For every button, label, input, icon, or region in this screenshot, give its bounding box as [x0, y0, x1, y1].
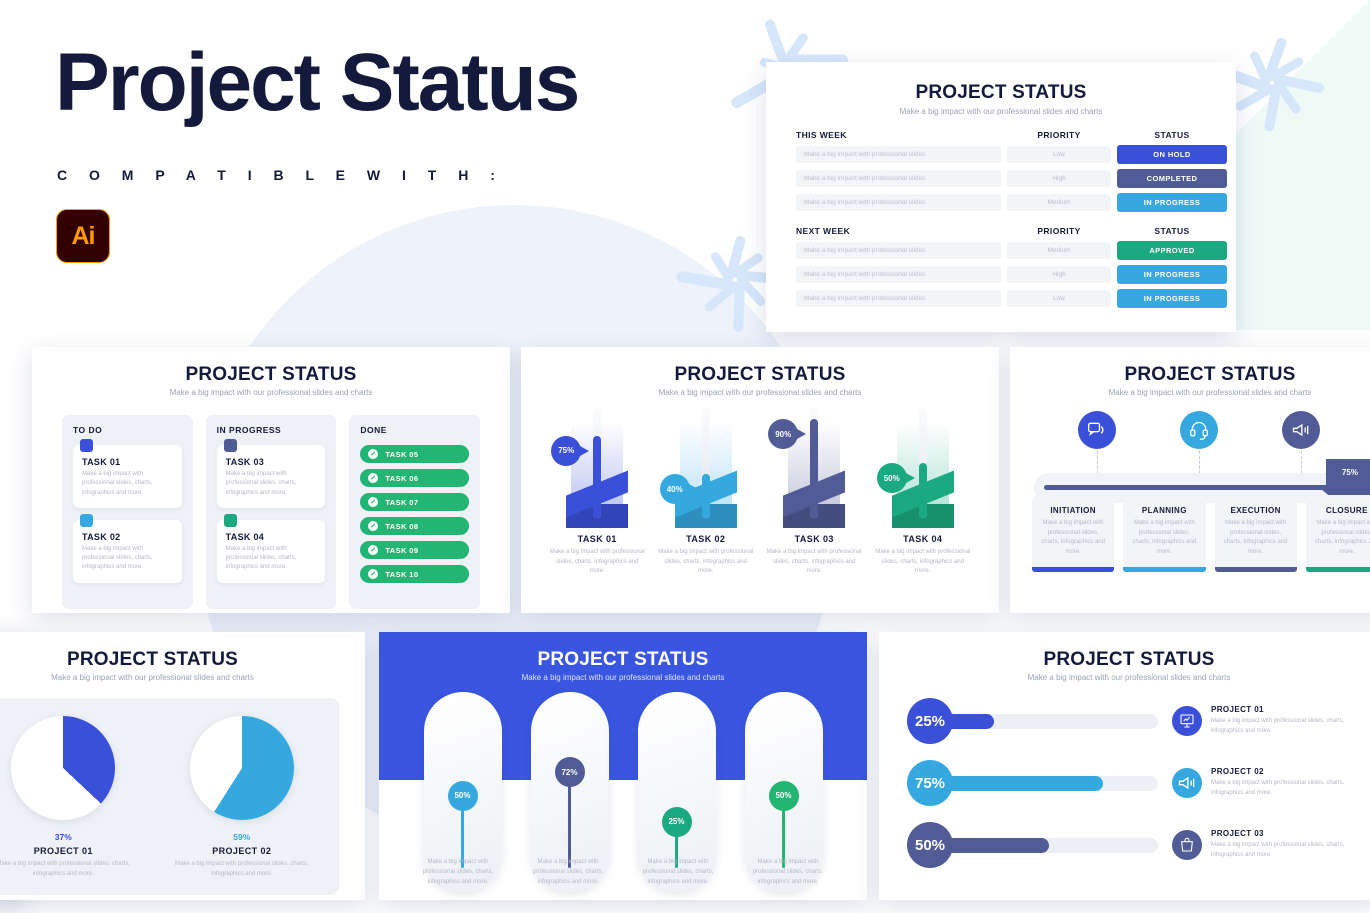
- row-status-cell: COMPLETED: [1117, 169, 1227, 188]
- task-description: Make a big impact with professional slid…: [82, 470, 173, 498]
- thermometer-item[interactable]: 75%TASK 01Make a big impact with profess…: [543, 403, 652, 577]
- row-status-cell: IN PROGRESS: [1117, 289, 1227, 308]
- slide-card-progress[interactable]: PROJECT STATUS Make a big impact with ou…: [879, 632, 1370, 900]
- project-name: PROJECT 02: [153, 846, 332, 856]
- done-task-label: TASK 05: [385, 450, 418, 459]
- capsule-description: Make a big impact with professional slid…: [513, 858, 623, 888]
- project-name: PROJECT 03: [1211, 829, 1351, 838]
- slide-card-kanban[interactable]: PROJECT STATUS Make a big impact with ou…: [32, 347, 510, 613]
- task-color-chip: [80, 439, 93, 452]
- megaphone-icon[interactable]: [1282, 411, 1320, 449]
- progress-track: [939, 838, 1158, 853]
- slide-subtitle: Make a big impact with our professional …: [379, 673, 867, 682]
- bubble-pointer: [797, 429, 806, 439]
- progress-percent-circle: 50%: [907, 822, 953, 868]
- task-name: TASK 03: [226, 457, 317, 467]
- done-task-pill[interactable]: ✓TASK 08: [360, 517, 469, 535]
- row-description-cell: Make a big impact with professional slid…: [796, 266, 1001, 283]
- thermometer-tube: [593, 408, 601, 518]
- progress-row[interactable]: 25%PROJECT 01Make a big impact with prof…: [907, 698, 1351, 744]
- done-task-pill[interactable]: ✓TASK 07: [360, 493, 469, 511]
- bubble-pointer: [689, 484, 698, 494]
- status-badge[interactable]: ON HOLD: [1117, 145, 1227, 164]
- shopping-bag-icon[interactable]: [1172, 830, 1202, 860]
- progress-fill: [939, 776, 1103, 791]
- slide-subtitle: Make a big impact with our professional …: [0, 673, 365, 682]
- capsule-percent-knob: 72%: [555, 757, 585, 787]
- slide-subtitle: Make a big impact with our professional …: [879, 673, 1370, 682]
- progress-row[interactable]: 75%PROJECT 02Make a big impact with prof…: [907, 760, 1351, 806]
- status-header: STATUS: [1117, 226, 1227, 236]
- status-badge[interactable]: IN PROGRESS: [1117, 193, 1227, 212]
- task-description: Make a big impact with professional slid…: [869, 548, 978, 577]
- table-row[interactable]: Make a big impact with professional slid…: [796, 241, 1206, 260]
- check-icon: ✓: [368, 497, 378, 507]
- slide-title: PROJECT STATUS: [32, 364, 510, 386]
- capsule-stem: [568, 783, 571, 868]
- slide-card-capsules[interactable]: PROJECT STATUS Make a big impact with ou…: [379, 632, 867, 900]
- phase-description: Make a big impact with professional slid…: [1040, 519, 1106, 557]
- percent-bubble: 50%: [877, 463, 907, 493]
- task-name: TASK 01: [543, 534, 652, 544]
- timeline-phase-card[interactable]: EXECUTIONMake a big impact with professi…: [1215, 495, 1297, 567]
- row-description: Make a big impact with professional slid…: [796, 242, 1001, 259]
- row-status-cell: IN PROGRESS: [1117, 265, 1227, 284]
- progress-text: PROJECT 03Make a big impact with profess…: [1211, 829, 1351, 860]
- kanban-column-heading: TO DO: [73, 425, 182, 435]
- kanban-column: TO DOTASK 01Make a big impact with profe…: [62, 415, 193, 609]
- slide-card-timeline[interactable]: PROJECT STATUS Make a big impact with ou…: [1010, 347, 1370, 613]
- slide-title: PROJECT STATUS: [521, 364, 999, 386]
- status-badge[interactable]: COMPLETED: [1117, 169, 1227, 188]
- row-description: Make a big impact with professional slid…: [796, 146, 1001, 163]
- done-task-pill[interactable]: ✓TASK 09: [360, 541, 469, 559]
- chat-bubble-icon[interactable]: [1078, 411, 1116, 449]
- slide-card-thermometers[interactable]: PROJECT STATUS Make a big impact with ou…: [521, 347, 999, 613]
- priority-value: High: [1007, 266, 1111, 283]
- phase-description: Make a big impact with professional slid…: [1131, 519, 1197, 557]
- task-description: Make a big impact with professional slid…: [82, 545, 173, 573]
- table-section: NEXT WEEKPRIORITYSTATUSMake a big impact…: [766, 226, 1236, 308]
- progress-track: [939, 714, 1158, 729]
- status-badge[interactable]: IN PROGRESS: [1117, 289, 1227, 308]
- phase-name: CLOSURE: [1314, 506, 1370, 515]
- progress-percent-circle: 75%: [907, 760, 953, 806]
- done-task-label: TASK 06: [385, 474, 418, 483]
- check-icon: ✓: [368, 449, 378, 459]
- slide-card-table[interactable]: PROJECT STATUS Make a big impact with ou…: [766, 62, 1236, 332]
- section-heading: THIS WEEK: [796, 130, 1001, 140]
- check-icon: ✓: [368, 473, 378, 483]
- task-description: Make a big impact with professional slid…: [226, 545, 317, 573]
- pie-chart: [11, 716, 115, 820]
- row-description: Make a big impact with professional slid…: [796, 170, 1001, 187]
- timeline-phase-card[interactable]: PLANNINGMake a big impact with professio…: [1123, 495, 1205, 567]
- table-header-row: THIS WEEKPRIORITYSTATUS: [796, 130, 1206, 140]
- row-description-cell: Make a big impact with professional slid…: [796, 290, 1001, 307]
- progress-track: [939, 776, 1158, 791]
- done-task-pill[interactable]: ✓TASK 06: [360, 469, 469, 487]
- timeline-phase-card[interactable]: INITIATIONMake a big impact with profess…: [1032, 495, 1114, 567]
- table-header-row: NEXT WEEKPRIORITYSTATUS: [796, 226, 1206, 236]
- project-name: PROJECT 01: [1211, 705, 1351, 714]
- thermometer-fill: [919, 463, 927, 518]
- project-description: Make a big impact with professional slid…: [1211, 717, 1351, 736]
- timeline-progress-label: 75%: [1326, 468, 1370, 477]
- priority-header: PRIORITY: [1007, 226, 1111, 236]
- task-name: TASK 04: [869, 534, 978, 544]
- check-icon: ✓: [368, 545, 378, 555]
- row-priority-cell: Low: [1007, 146, 1111, 163]
- table-row[interactable]: Make a big impact with professional slid…: [796, 289, 1206, 308]
- kanban-task-card[interactable]: TASK 02Make a big impact with profession…: [73, 520, 182, 583]
- slide-title: PROJECT STATUS: [0, 649, 365, 671]
- row-description: Make a big impact with professional slid…: [796, 266, 1001, 283]
- table-row[interactable]: Make a big impact with professional slid…: [796, 265, 1206, 284]
- megaphone-icon[interactable]: [1172, 768, 1202, 798]
- priority-value: Medium: [1007, 242, 1111, 259]
- row-description: Make a big impact with professional slid…: [796, 194, 1001, 211]
- thermometer-fill: [593, 436, 601, 519]
- task-color-chip: [224, 514, 237, 527]
- capsule-task-label: TASK 02: [512, 784, 521, 819]
- task-name: TASK 04: [226, 532, 317, 542]
- phase-accent-bar: [1215, 567, 1297, 572]
- project-name: PROJECT 02: [1211, 767, 1351, 776]
- capsule-percent-knob: 50%: [769, 781, 799, 811]
- thermometer-fill: [810, 419, 818, 518]
- check-icon: ✓: [368, 521, 378, 531]
- thermometer-tube: [810, 408, 818, 518]
- kanban-column: IN PROGRESSTASK 03Make a big impact with…: [206, 415, 337, 609]
- task-description: Make a big impact with professional slid…: [760, 548, 869, 577]
- progress-row[interactable]: 50%PROJECT 03Make a big impact with prof…: [907, 822, 1351, 868]
- project-description: Make a big impact with professional slid…: [0, 860, 153, 879]
- row-status-cell: APPROVED: [1117, 241, 1227, 260]
- done-task-label: TASK 10: [385, 570, 418, 579]
- status-badge[interactable]: IN PROGRESS: [1117, 265, 1227, 284]
- project-description: Make a big impact with professional slid…: [153, 860, 332, 879]
- kanban-task-card[interactable]: TASK 01Make a big impact with profession…: [73, 445, 182, 508]
- thermometer-visual: 90%: [760, 403, 869, 528]
- thermometer-fill: [702, 474, 710, 518]
- capsule-task-label: TASK 03: [619, 784, 628, 819]
- pie-chart-item[interactable]: 37%PROJECT 01Make a big impact with prof…: [0, 716, 153, 879]
- row-priority-cell: High: [1007, 266, 1111, 283]
- slide-subtitle: Make a big impact with our professional …: [32, 388, 510, 397]
- progress-fill: [939, 838, 1049, 853]
- phase-description: Make a big impact with professional slid…: [1223, 519, 1289, 557]
- task-name: TASK 02: [652, 534, 761, 544]
- progress-text: PROJECT 02Make a big impact with profess…: [1211, 767, 1351, 798]
- kanban-task-card[interactable]: TASK 04Make a big impact with profession…: [217, 520, 326, 583]
- slide-subtitle: Make a big impact with our professional …: [1010, 388, 1370, 397]
- capsule-task-label: TASK 04: [726, 784, 735, 819]
- project-description: Make a big impact with professional slid…: [1211, 841, 1351, 860]
- done-task-pill[interactable]: ✓TASK 05: [360, 445, 469, 463]
- phase-accent-bar: [1123, 567, 1205, 572]
- priority-value: Medium: [1007, 194, 1111, 211]
- kanban-column-heading: DONE: [360, 425, 469, 435]
- done-task-label: TASK 07: [385, 498, 418, 507]
- capsule-description: Make a big impact with professional slid…: [403, 858, 513, 888]
- phase-description: Make a big impact with professional slid…: [1314, 519, 1370, 557]
- capsule-description: Make a big impact with professional slid…: [623, 858, 733, 888]
- percent-bubble: 40%: [660, 474, 690, 504]
- task-description: Make a big impact with professional slid…: [543, 548, 652, 577]
- progress-percent-circle: 25%: [907, 698, 953, 744]
- task-color-chip: [80, 514, 93, 527]
- thermometer-tube: [919, 408, 927, 518]
- slide-subtitle: Make a big impact with our professional …: [766, 107, 1236, 116]
- phase-accent-bar: [1306, 567, 1370, 572]
- phase-name: PLANNING: [1131, 506, 1197, 515]
- task-color-chip: [224, 439, 237, 452]
- compatible-with-label: C O M P A T I B L E W I T H :: [57, 167, 504, 183]
- thermometer-item[interactable]: 50%TASK 04Make a big impact with profess…: [869, 403, 978, 577]
- row-priority-cell: High: [1007, 170, 1111, 187]
- bubble-pointer: [906, 473, 915, 483]
- row-status-cell: IN PROGRESS: [1117, 193, 1227, 212]
- table-row[interactable]: Make a big impact with professional slid…: [796, 169, 1206, 188]
- row-priority-cell: Medium: [1007, 242, 1111, 259]
- phase-accent-bar: [1032, 567, 1114, 572]
- task-name: TASK 02: [82, 532, 173, 542]
- check-icon: ✓: [368, 569, 378, 579]
- thermometer-item[interactable]: 90%TASK 03Make a big impact with profess…: [760, 403, 869, 577]
- progress-text: PROJECT 01Make a big impact with profess…: [1211, 705, 1351, 736]
- capsule-percent-knob: 50%: [448, 781, 478, 811]
- thermometer-visual: 40%: [652, 403, 761, 528]
- bubble-pointer: [580, 446, 589, 456]
- slide-subtitle: Make a big impact with our professional …: [521, 388, 999, 397]
- row-description-cell: Make a big impact with professional slid…: [796, 194, 1001, 211]
- kanban-column-heading: IN PROGRESS: [217, 425, 326, 435]
- pie-chart-item[interactable]: 59%PROJECT 02Make a big impact with prof…: [153, 716, 332, 879]
- thermometer-tube: [702, 408, 710, 518]
- section-heading: NEXT WEEK: [796, 226, 1001, 236]
- task-name: TASK 01: [82, 457, 173, 467]
- phase-name: EXECUTION: [1223, 506, 1289, 515]
- priority-value: Low: [1007, 290, 1111, 307]
- adobe-illustrator-icon: Ai: [56, 209, 110, 263]
- capsule-percent-knob: 25%: [662, 807, 692, 837]
- task-description: Make a big impact with professional slid…: [652, 548, 761, 577]
- slide-title: PROJECT STATUS: [379, 632, 867, 671]
- status-badge[interactable]: APPROVED: [1117, 241, 1227, 260]
- slide-title: PROJECT STATUS: [879, 649, 1370, 671]
- pie-chart: [190, 716, 294, 820]
- capsule-description: Make a big impact with professional slid…: [733, 858, 843, 888]
- priority-value: Low: [1007, 146, 1111, 163]
- presentation-board-icon[interactable]: [1172, 706, 1202, 736]
- timeline-phase-card[interactable]: CLOSUREMake a big impact with profession…: [1306, 495, 1370, 567]
- row-description: Make a big impact with professional slid…: [796, 290, 1001, 307]
- task-description: Make a big impact with professional slid…: [226, 470, 317, 498]
- pie-percent-label: 59%: [153, 832, 332, 842]
- project-description: Make a big impact with professional slid…: [1211, 779, 1351, 798]
- row-description-cell: Make a big impact with professional slid…: [796, 146, 1001, 163]
- row-status-cell: ON HOLD: [1117, 145, 1227, 164]
- row-priority-cell: Low: [1007, 290, 1111, 307]
- kanban-column: DONE✓TASK 05✓TASK 06✓TASK 07✓TASK 08✓TAS…: [349, 415, 480, 609]
- priority-header: PRIORITY: [1007, 130, 1111, 140]
- capsule-task-label: TASK 01: [405, 784, 414, 819]
- phase-name: INITIATION: [1040, 506, 1106, 515]
- row-priority-cell: Medium: [1007, 194, 1111, 211]
- row-description-cell: Make a big impact with professional slid…: [796, 170, 1001, 187]
- project-name: PROJECT 01: [0, 846, 153, 856]
- done-task-label: TASK 08: [385, 522, 418, 531]
- table-section: THIS WEEKPRIORITYSTATUSMake a big impact…: [766, 130, 1236, 212]
- page-title: Project Status: [55, 42, 578, 124]
- done-task-pill[interactable]: ✓TASK 10: [360, 565, 469, 583]
- kanban-task-card[interactable]: TASK 03Make a big impact with profession…: [217, 445, 326, 508]
- headset-icon[interactable]: [1180, 411, 1218, 449]
- percent-bubble: 75%: [551, 436, 581, 466]
- thermometer-visual: 50%: [869, 403, 978, 528]
- status-header: STATUS: [1117, 130, 1227, 140]
- table-row[interactable]: Make a big impact with professional slid…: [796, 145, 1206, 164]
- task-name: TASK 03: [760, 534, 869, 544]
- pie-percent-label: 37%: [0, 832, 153, 842]
- thermometer-visual: 75%: [543, 403, 652, 528]
- slide-title: PROJECT STATUS: [1010, 364, 1370, 386]
- table-row[interactable]: Make a big impact with professional slid…: [796, 193, 1206, 212]
- row-description-cell: Make a big impact with professional slid…: [796, 242, 1001, 259]
- thermometer-item[interactable]: 40%TASK 02Make a big impact with profess…: [652, 403, 761, 577]
- slide-card-pies[interactable]: PROJECT STATUS Make a big impact with ou…: [0, 632, 365, 900]
- slide-title: PROJECT STATUS: [766, 82, 1236, 104]
- priority-value: High: [1007, 170, 1111, 187]
- done-task-label: TASK 09: [385, 546, 418, 555]
